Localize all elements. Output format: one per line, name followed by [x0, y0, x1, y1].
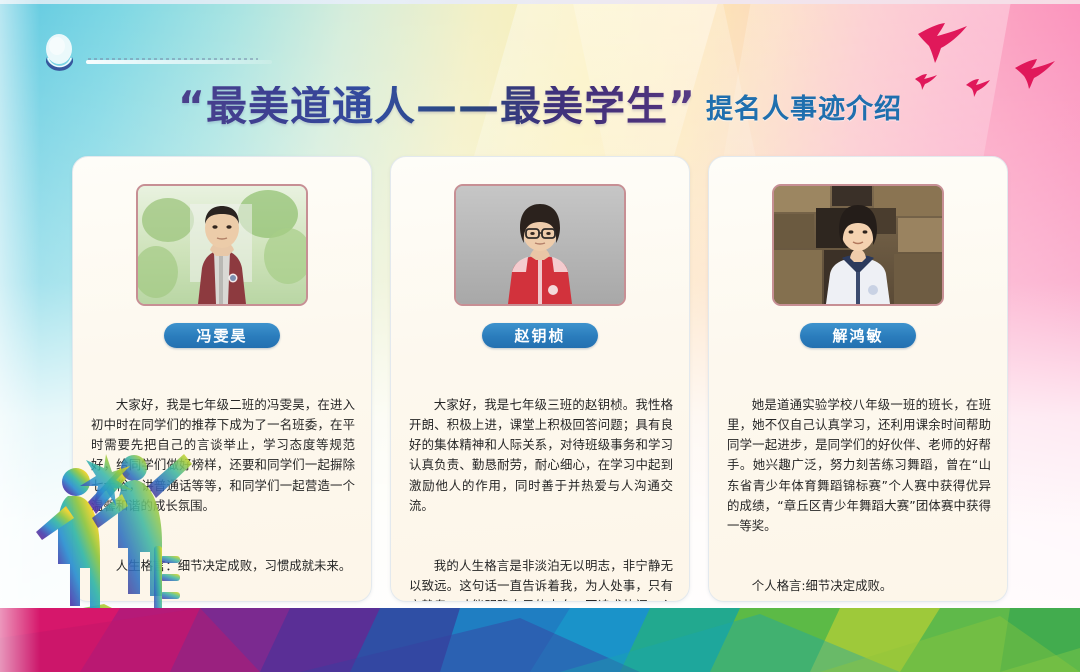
title-sub-text: 提名人事迹介绍	[706, 96, 902, 127]
student-card[interactable]: 赵钥桢 大家好，我是七年级三班的赵钥桢。我性格开朗、积极上进，课堂上积极回答问题…	[390, 156, 690, 602]
student-bio: 她是道通实验学校八年级一班的班长，在班里，她不仅自己认真学习，还利用课余时间帮助…	[727, 355, 991, 602]
student-name-badge: 赵钥桢	[482, 323, 598, 348]
student-card[interactable]: 解鸿敏 她是道通实验学校八年级一班的班长，在班里，她不仅自己认真学习，还利用课余…	[708, 156, 1008, 602]
bio-paragraph: 个人格言:细节决定成败。	[727, 576, 991, 596]
title-main-text: “最美道通人——最美学生”	[178, 86, 696, 127]
student-name-badge: 冯雯昊	[164, 323, 280, 348]
bio-paragraph: 她是道通实验学校八年级一班的班长，在班里，她不仅自己认真学习，还利用课余时间帮助…	[727, 395, 991, 536]
student-name-badge: 解鸿敏	[800, 323, 916, 348]
student-photo-frame	[136, 184, 308, 306]
logo-wordmark-line	[86, 60, 272, 64]
student-photo	[456, 186, 624, 304]
poster-canvas: “最美道通人——最美学生” 提名人事迹介绍	[0, 0, 1080, 672]
page-title: “最美道通人——最美学生” 提名人事迹介绍	[0, 86, 1080, 127]
student-photo	[138, 186, 306, 304]
school-logo	[42, 33, 282, 75]
bio-paragraph: 大家好，我是七年级三班的赵钥桢。我性格开朗、积极上进，课堂上积极回答问题；具有良…	[409, 395, 673, 516]
student-bio: 大家好，我是七年级三班的赵钥桢。我性格开朗、积极上进，课堂上积极回答问题；具有良…	[409, 355, 673, 602]
student-photo-frame	[454, 184, 626, 306]
top-edge-line	[0, 0, 1080, 4]
bio-paragraph: 我的人生格言是非淡泊无以明志，非宁静无以致远。这句话一直告诉着我，为人处事，只有…	[409, 556, 673, 602]
student-photo-frame	[772, 184, 944, 306]
bird-icon-large	[915, 22, 971, 64]
student-photo	[774, 186, 942, 304]
logo-emblem-icon	[42, 33, 80, 73]
bottom-rainbow-band	[0, 608, 1080, 672]
